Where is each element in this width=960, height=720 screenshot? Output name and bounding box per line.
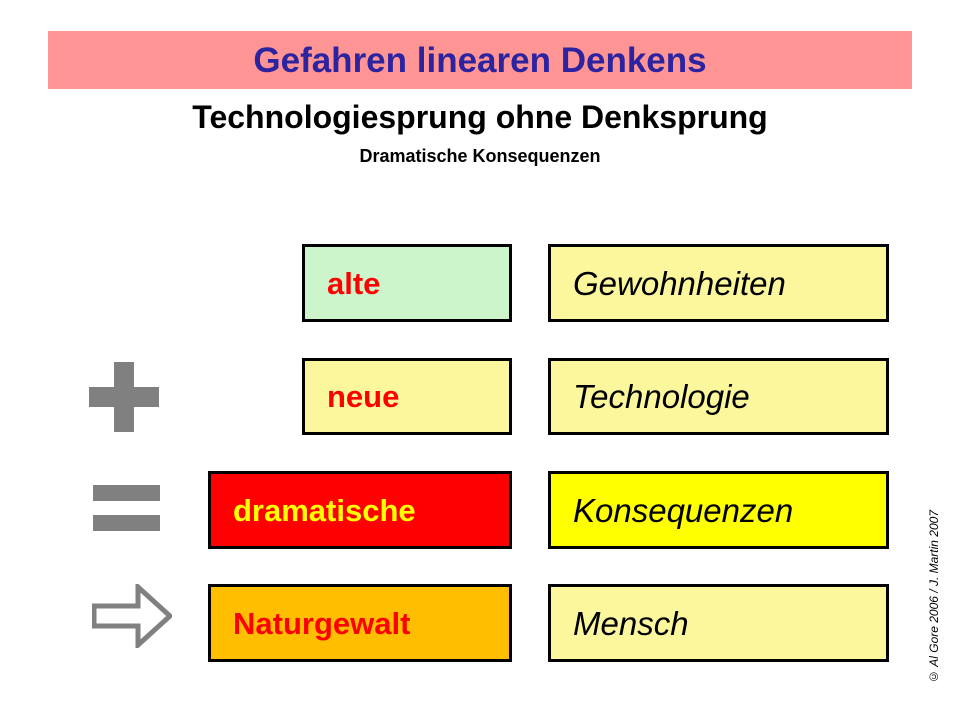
row-1-left-box: alte <box>302 244 512 322</box>
row-2-left-label: neue <box>305 381 399 412</box>
row-3-right-box: Konsequenzen <box>548 471 889 549</box>
row-4-right-box: Mensch <box>548 584 889 662</box>
subtitle-secondary: Dramatische Konsequenzen <box>0 147 960 166</box>
page-title: Gefahren linearen Denkens <box>253 43 706 78</box>
row-4-left-label: Naturgewalt <box>211 608 410 639</box>
copyright-notice: © Al Gore 2006 / J. Martin 2007 <box>928 510 940 684</box>
arrow-right-icon <box>92 584 172 648</box>
row-4-left-box: Naturgewalt <box>208 584 512 662</box>
slide-canvas: Gefahren linearen Denkens Technologiespr… <box>0 0 960 720</box>
equals-icon-lower-bar <box>93 515 160 531</box>
plus-icon <box>89 362 159 432</box>
row-3-right-label: Konsequenzen <box>551 494 793 527</box>
equals-icon <box>93 485 160 531</box>
row-1-left-label: alte <box>305 268 380 299</box>
equals-icon-upper-bar <box>93 485 160 501</box>
row-1-right-box: Gewohnheiten <box>548 244 889 322</box>
row-1-right-label: Gewohnheiten <box>551 267 786 300</box>
row-2-right-box: Technologie <box>548 358 889 435</box>
row-3-left-box: dramatische <box>208 471 512 549</box>
plus-icon-vertical-bar <box>114 362 134 432</box>
title-banner: Gefahren linearen Denkens <box>48 31 912 89</box>
row-4-right-label: Mensch <box>551 607 689 640</box>
row-3-left-label: dramatische <box>211 495 416 526</box>
subtitle-primary: Technologiesprung ohne Denksprung <box>0 101 960 135</box>
row-2-right-label: Technologie <box>551 380 750 413</box>
row-2-left-box: neue <box>302 358 512 435</box>
